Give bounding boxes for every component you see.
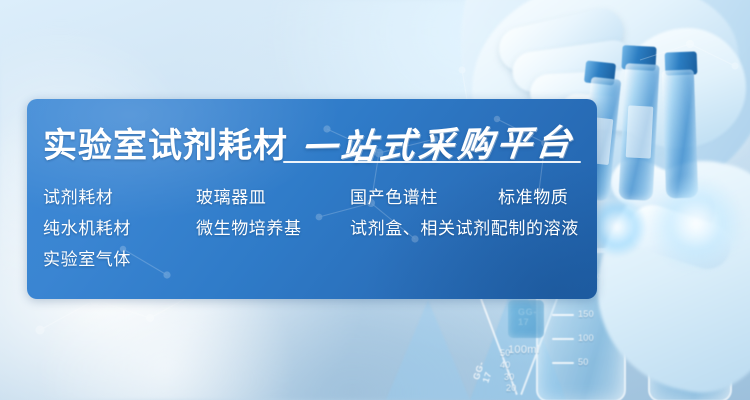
category-item-water-purifier-consumables[interactable]: 纯水机耗材 [43,214,131,239]
headline-underline [283,161,581,163]
category-row: 实验室气体 [43,245,591,276]
category-item-domestic-chromatography-column[interactable]: 国产色谱柱 [350,183,438,208]
category-row: 纯水机耗材 微生物培养基 试剂盒、相关试剂配制的溶液 [43,214,591,245]
category-item-laboratory-gases[interactable]: 实验室气体 [43,245,131,270]
category-item-reference-materials[interactable]: 标准物质 [498,183,568,208]
category-list: 试剂耗材 玻璃器皿 国产色谱柱 标准物质 纯水机耗材 微生物培养基 试剂盒、相关… [43,183,591,276]
promo-panel: 实验室试剂耗材 一站式采购平台 试剂耗材 玻璃器皿 国产色谱柱 标准物质 纯水机… [27,99,597,299]
lab-supplies-banner: 250 APPROX 200 150 100 50 50 40 30 20 GG… [0,0,750,400]
category-row: 试剂耗材 玻璃器皿 国产色谱柱 标准物质 [43,183,591,214]
category-item-glassware[interactable]: 玻璃器皿 [196,183,266,208]
category-item-reagent-consumables[interactable]: 试剂耗材 [43,183,113,208]
category-item-reagent-kits-and-solutions[interactable]: 试剂盒、相关试剂配制的溶液 [350,214,579,239]
headline-primary: 实验室试剂耗材 [43,118,288,167]
category-item-microbial-culture-media[interactable]: 微生物培养基 [196,214,302,239]
